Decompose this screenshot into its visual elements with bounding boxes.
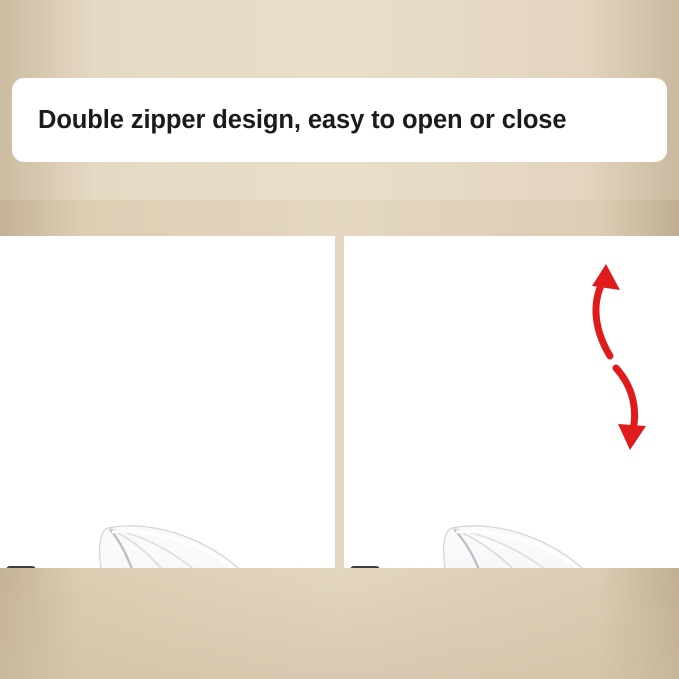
open-canopy-photo bbox=[344, 236, 679, 568]
caption-text: Double zipper design, easy to open or cl… bbox=[38, 106, 566, 135]
zipper-direction-double-arrow bbox=[592, 264, 646, 450]
mosquito-net-closed-left bbox=[100, 526, 312, 568]
closed-canopy-photo bbox=[0, 236, 335, 568]
mosquito-net-open-right bbox=[444, 526, 662, 568]
page-background-bottom-shadow bbox=[0, 559, 679, 679]
photo-panel-row bbox=[0, 236, 679, 568]
caption-banner: Double zipper design, easy to open or cl… bbox=[12, 78, 667, 162]
stroller-closed-illustration bbox=[0, 236, 335, 568]
stroller-open-illustration bbox=[344, 236, 679, 568]
